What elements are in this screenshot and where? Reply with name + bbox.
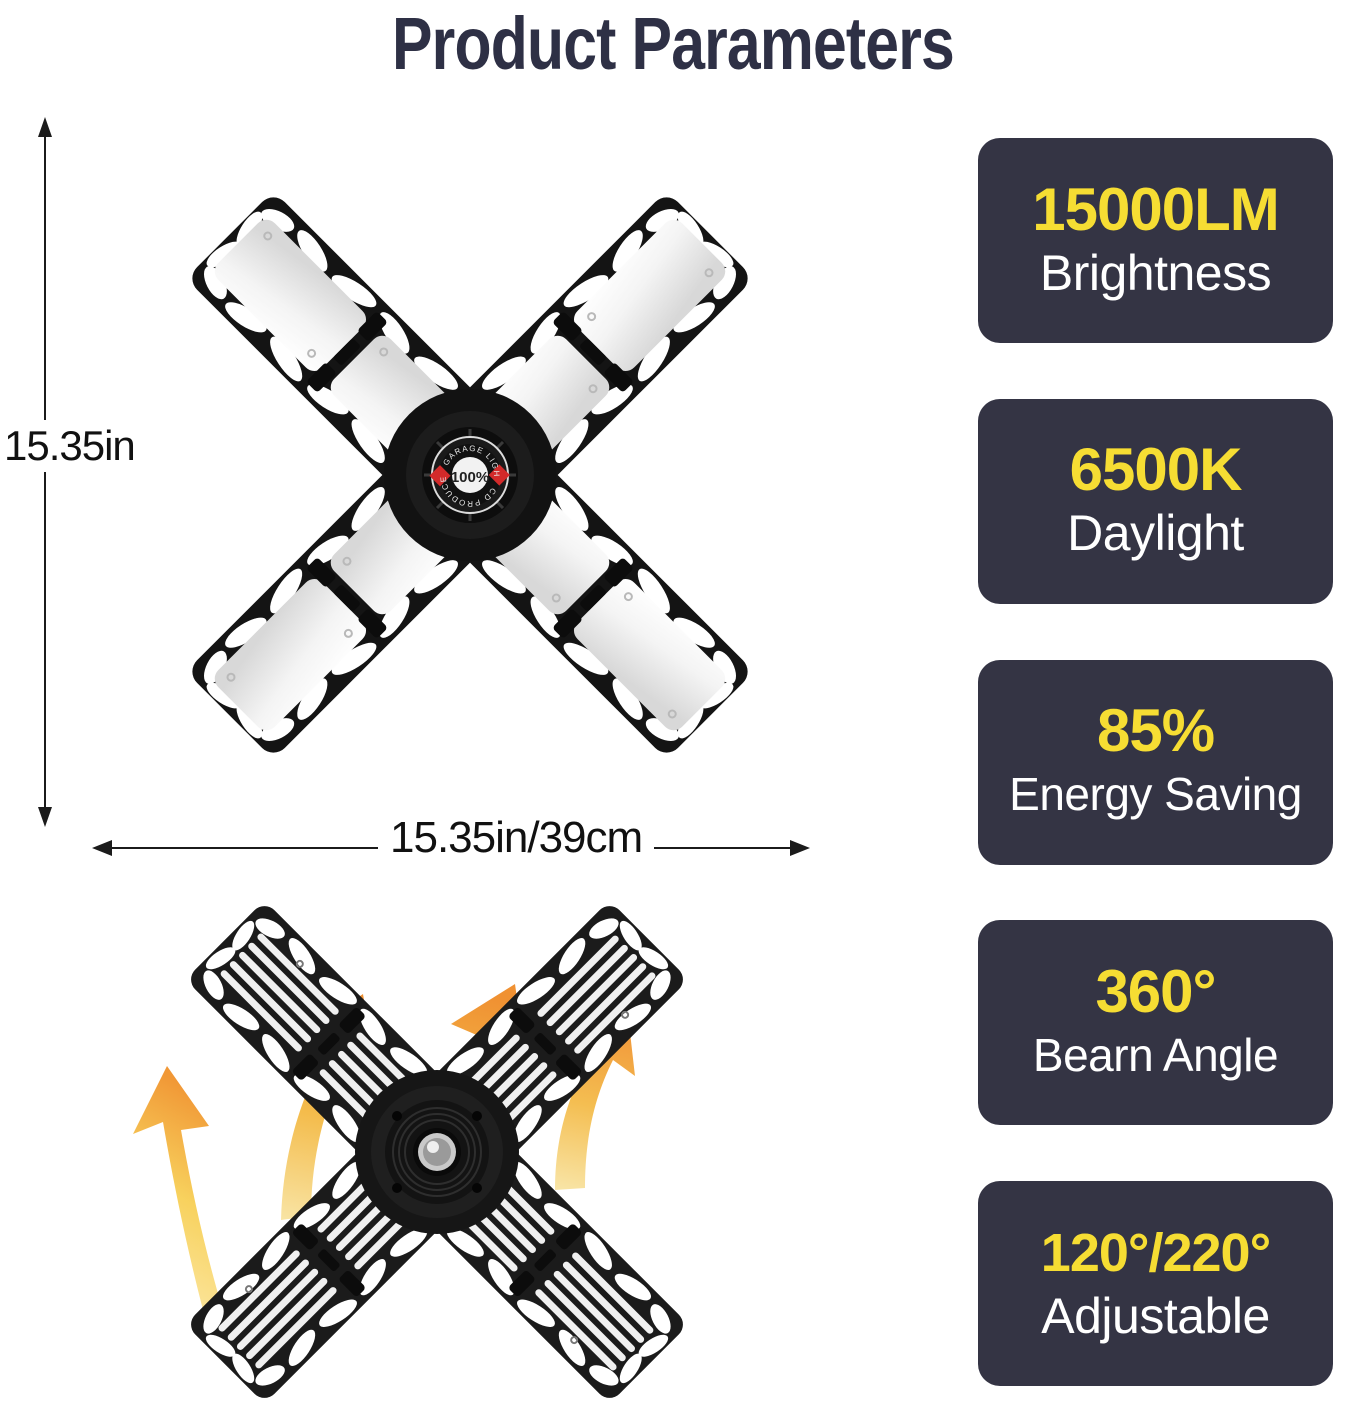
spec-value-brightness: 15000LM [1032,176,1278,244]
product-rear-svg [85,890,785,1400]
spec-value-beam-angle: 360° [1095,958,1215,1026]
spec-card-brightness[interactable]: 15000LM Brightness [978,138,1333,343]
spec-value-color-temperature: 6500K [1070,436,1242,504]
airflow-arrow-far-left [133,1066,221,1310]
arrow-head-down-icon [38,807,52,827]
spec-card-adjustable-angle[interactable]: 120°/220° Adjustable [978,1181,1333,1386]
spec-label-adjustable-angle: Adjustable [1041,1287,1270,1345]
product-rear-view [85,890,785,1400]
spec-card-color-temperature[interactable]: 6500K Daylight [978,399,1333,604]
spec-card-energy-saving[interactable]: 85% Energy Saving [978,660,1333,865]
product-illustration-area: 15.35in [0,95,960,1405]
height-dimension-arrow [38,117,52,827]
spec-label-energy-saving: Energy Saving [1009,765,1302,823]
spec-label-brightness: Brightness [1040,244,1271,302]
spec-value-adjustable-angle: 120°/220° [1041,1219,1270,1287]
product-front-view: 100% GARAGE LIGHT CD PRODUCE [60,105,880,845]
spec-value-energy-saving: 85% [1097,697,1214,765]
spec-card-list: 15000LM Brightness 6500K Daylight 85% En… [978,138,1333,1386]
hub-badge-percent: 100% [451,469,489,486]
dimension-line [44,125,46,819]
width-dimension-arrow: 15.35in/39cm [92,840,810,856]
spec-label-beam-angle: Bearn Angle [1033,1026,1278,1084]
width-dimension-label: 15.35in/39cm [378,812,654,864]
arrow-head-right-icon [790,840,810,856]
page-title: Product Parameters [121,2,1225,86]
product-front-svg: 100% GARAGE LIGHT CD PRODUCE [60,105,880,845]
spec-label-color-temperature: Daylight [1067,504,1244,562]
spec-card-beam-angle[interactable]: 360° Bearn Angle [978,920,1333,1125]
rear-center-hub-e26-base [355,1070,519,1234]
